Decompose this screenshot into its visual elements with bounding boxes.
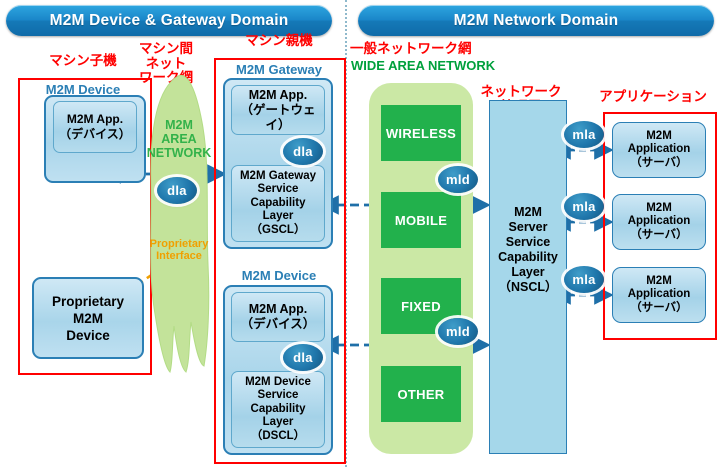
m2m-server-scl-label: M2M Server Service Capability Layer （NSC…	[489, 205, 567, 295]
gateway-device-app-box: M2M App. （デバイス）	[231, 292, 325, 342]
caption-child-machine: マシン子機	[16, 54, 150, 69]
m2m-application-box: M2M Application （サーバ）	[612, 194, 706, 250]
caption-wide-area-network: WIDE AREA NETWORK	[351, 58, 521, 73]
reference-point-mld-badge: mld	[438, 166, 478, 193]
wan-segment-other: OTHER	[381, 366, 461, 422]
reference-point-dla-badge: dla	[157, 177, 197, 204]
proprietary-interface-label: Proprietary Interface	[141, 238, 217, 262]
reference-point-dla-badge: dla	[283, 138, 323, 165]
reference-point-mla-badge: mla	[564, 266, 604, 293]
banner-network-domain: M2M Network Domain	[358, 5, 714, 36]
caption-application: アプリケーション	[586, 90, 720, 105]
m2m-application-box: M2M Application （サーバ）	[612, 122, 706, 178]
reference-point-mla-badge: mla	[564, 193, 604, 220]
label-gateway-m2m-device: M2M Device	[218, 268, 340, 283]
m2m-application-box: M2M Application （サーバ）	[612, 267, 706, 323]
wan-segment-mobile: MOBILE	[381, 192, 461, 248]
label-m2m-gateway: M2M Gateway	[218, 62, 340, 77]
reference-point-mla-badge: mla	[564, 121, 604, 148]
proprietary-m2m-device-box: Proprietary M2M Device	[32, 277, 144, 359]
wan-segment-wireless: WIRELESS	[381, 105, 461, 161]
reference-point-dla-badge: dla	[283, 344, 323, 371]
reference-point-mld-badge: mld	[438, 318, 478, 345]
area-network-label: M2M AREA NETWORK	[145, 118, 213, 160]
device-service-capability-layer-box: M2M Device Service Capability Layer （DSC…	[231, 371, 325, 448]
banner-device-gateway-domain: M2M Device & Gateway Domain	[6, 5, 332, 36]
diagram-canvas: M2M Device & Gateway Domain M2M Network …	[0, 0, 720, 467]
gateway-app-box: M2M App. （ゲートウェイ）	[231, 85, 325, 135]
m2m-device-app-box: M2M App. （デバイス）	[53, 101, 137, 153]
caption-general-network: 一般ネットワーク網	[350, 42, 510, 57]
caption-parent-machine: マシン親機	[226, 34, 332, 49]
gateway-service-capability-layer-box: M2M Gateway Service Capability Layer （GS…	[231, 165, 325, 242]
